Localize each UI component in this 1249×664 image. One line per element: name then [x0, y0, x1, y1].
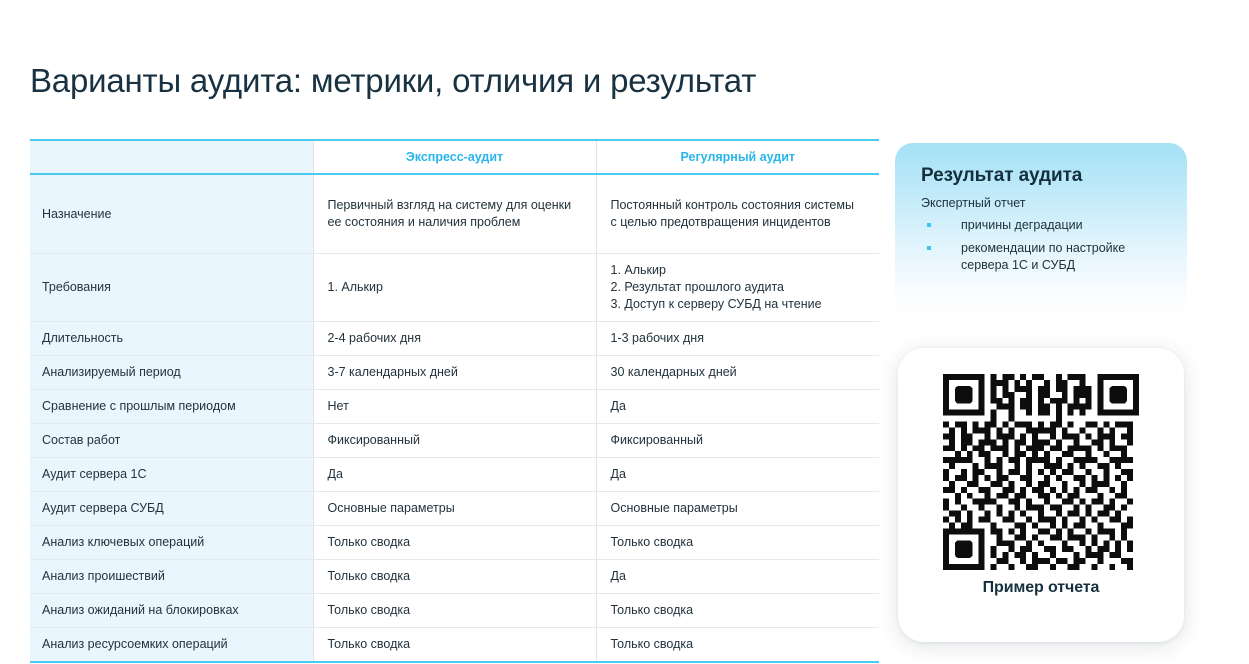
cell-line: 1. Алькир — [611, 262, 866, 279]
qr-code-icon[interactable] — [943, 374, 1139, 570]
row-cell-express: 3-7 календарных дней — [313, 356, 596, 390]
table-row: Сравнение с прошлым периодом Нет Да — [30, 390, 879, 424]
row-cell-regular: Да — [596, 458, 879, 492]
row-metric-label: Анализируемый период — [30, 356, 313, 390]
comparison-table-wrapper: Экспресс-аудит Регулярный аудит Назначен… — [30, 139, 879, 663]
row-cell-regular: Только сводка — [596, 628, 879, 663]
table-row: Назначение Первичный взгляд на систему д… — [30, 174, 879, 254]
table-row: Анализ ресурсоемких операций Только свод… — [30, 628, 879, 663]
list-item-label: рекомендации по настройке сервера 1С и С… — [961, 241, 1125, 272]
bullet-square-icon — [927, 223, 931, 227]
cell-line: Постоянный контроль состояния системы — [611, 197, 866, 214]
row-cell-express: Нет — [313, 390, 596, 424]
row-cell-regular: Только сводка — [596, 594, 879, 628]
row-cell-express: Основные параметры — [313, 492, 596, 526]
row-metric-label: Анализ проишествий — [30, 560, 313, 594]
report-sample-qr-card[interactable]: Пример отчета — [898, 348, 1184, 642]
row-cell-express: 2-4 рабочих дня — [313, 322, 596, 356]
table-row: Анализ проишествий Только сводка Да — [30, 560, 879, 594]
table-row: Состав работ Фиксированный Фиксированный — [30, 424, 879, 458]
row-cell-regular: 1-3 рабочих дня — [596, 322, 879, 356]
table-row: Аудит сервера СУБД Основные параметры Ос… — [30, 492, 879, 526]
bullet-square-icon — [927, 246, 931, 250]
row-cell-express: 1. Алькир — [313, 254, 596, 322]
row-cell-express: Первичный взгляд на систему для оценки е… — [313, 174, 596, 254]
column-header-regular-audit: Регулярный аудит — [596, 140, 879, 174]
row-metric-label: Анализ ресурсоемких операций — [30, 628, 313, 663]
row-cell-express: Только сводка — [313, 560, 596, 594]
table-row: Длительность 2-4 рабочих дня 1-3 рабочих… — [30, 322, 879, 356]
audit-result-card: Результат аудита Экспертный отчет причин… — [895, 143, 1187, 315]
row-metric-label: Аудит сервера СУБД — [30, 492, 313, 526]
row-cell-regular: Постоянный контроль состояния системы с … — [596, 174, 879, 254]
cell-line: 1. Алькир — [328, 279, 582, 296]
row-cell-regular: Только сводка — [596, 526, 879, 560]
row-metric-label: Назначение — [30, 174, 313, 254]
page-title: Варианты аудита: метрики, отличия и резу… — [30, 62, 756, 100]
result-card-subtitle: Экспертный отчет — [921, 196, 1165, 210]
table-row: Анализируемый период 3-7 календарных дне… — [30, 356, 879, 390]
row-cell-regular: Фиксированный — [596, 424, 879, 458]
result-card-list: причины деградации рекомендации по настр… — [921, 217, 1165, 274]
table-row: Аудит сервера 1С Да Да — [30, 458, 879, 492]
row-cell-express: Только сводка — [313, 628, 596, 663]
table-row: Анализ ожиданий на блокировках Только св… — [30, 594, 879, 628]
cell-line: с целью предотвращения инцидентов — [611, 214, 866, 231]
cell-line: 2. Результат прошлого аудита — [611, 279, 866, 296]
row-cell-express: Только сводка — [313, 594, 596, 628]
row-cell-express: Фиксированный — [313, 424, 596, 458]
row-metric-label: Требования — [30, 254, 313, 322]
table-row: Анализ ключевых операций Только сводка Т… — [30, 526, 879, 560]
row-cell-regular: Основные параметры — [596, 492, 879, 526]
table-row: Требования 1. Алькир 1. Алькир 2. Резуль… — [30, 254, 879, 322]
row-metric-label: Анализ ожиданий на блокировках — [30, 594, 313, 628]
row-metric-label: Аудит сервера 1С — [30, 458, 313, 492]
cell-line: 3. Доступ к серверу СУБД на чтение — [611, 296, 866, 313]
list-item-label: причины деградации — [961, 218, 1083, 232]
row-metric-label: Анализ ключевых операций — [30, 526, 313, 560]
row-cell-express: Да — [313, 458, 596, 492]
qr-caption: Пример отчета — [983, 579, 1100, 597]
cell-line: Первичный взгляд на систему для оценки — [328, 197, 582, 214]
row-metric-label: Сравнение с прошлым периодом — [30, 390, 313, 424]
list-item: причины деградации — [921, 217, 1165, 234]
row-cell-express: Только сводка — [313, 526, 596, 560]
audit-comparison-table: Экспресс-аудит Регулярный аудит Назначен… — [30, 139, 879, 663]
list-item: рекомендации по настройке сервера 1С и С… — [921, 240, 1165, 274]
row-cell-regular: 30 календарных дней — [596, 356, 879, 390]
row-cell-regular: Да — [596, 390, 879, 424]
cell-line: ее состояния и наличия проблем — [328, 214, 582, 231]
table-header-row: Экспресс-аудит Регулярный аудит — [30, 140, 879, 174]
row-metric-label: Состав работ — [30, 424, 313, 458]
result-card-title: Результат аудита — [921, 165, 1165, 187]
row-cell-regular: Да — [596, 560, 879, 594]
column-header-express-audit: Экспресс-аудит — [313, 140, 596, 174]
table-body: Назначение Первичный взгляд на систему д… — [30, 174, 879, 662]
column-header-metric — [30, 140, 313, 174]
row-cell-regular: 1. Алькир 2. Результат прошлого аудита 3… — [596, 254, 879, 322]
row-metric-label: Длительность — [30, 322, 313, 356]
